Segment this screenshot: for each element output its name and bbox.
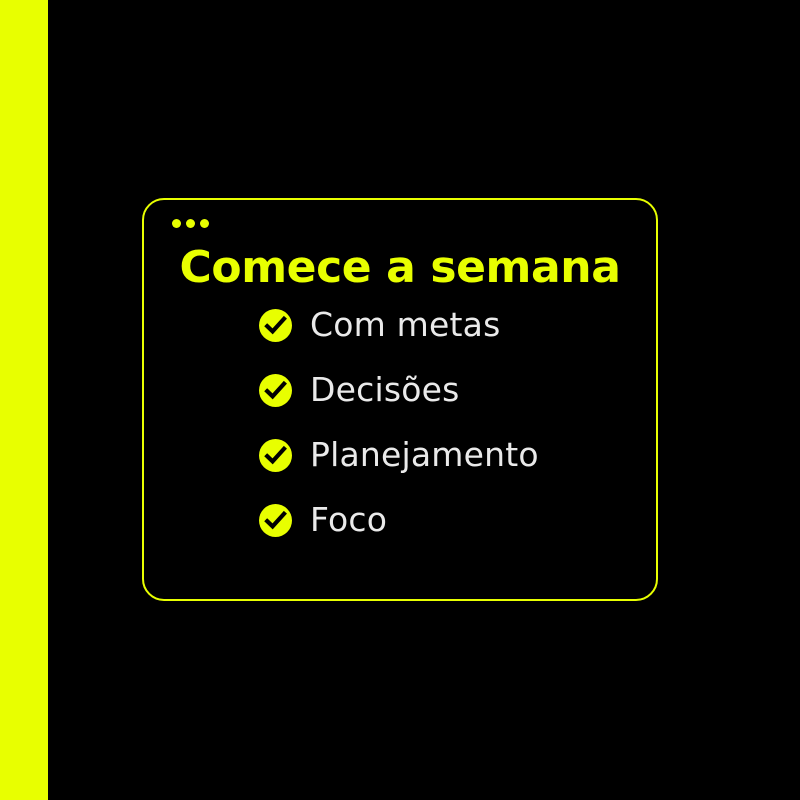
list-item-label: Planejamento [310, 438, 539, 472]
window-dot-1 [172, 219, 181, 228]
window-dot-3 [200, 219, 209, 228]
checklist: Com metas Decisões Pla [259, 308, 539, 537]
list-item-label: Decisões [310, 373, 460, 407]
check-circle-icon [259, 309, 292, 342]
checklist-card: Comece a semana Com metas [142, 198, 658, 601]
left-accent-stripe [0, 0, 48, 800]
canvas: Comece a semana Com metas [0, 0, 800, 800]
check-circle-icon [259, 439, 292, 472]
check-circle-icon [259, 374, 292, 407]
list-item-label: Foco [310, 503, 387, 537]
list-item[interactable]: Foco [259, 503, 539, 537]
list-item[interactable]: Com metas [259, 308, 539, 342]
window-dot-2 [186, 219, 195, 228]
list-item[interactable]: Decisões [259, 373, 539, 407]
card-title: Comece a semana [144, 246, 656, 290]
list-item[interactable]: Planejamento [259, 438, 539, 472]
check-circle-icon [259, 504, 292, 537]
window-dots [172, 219, 209, 228]
list-item-label: Com metas [310, 308, 500, 342]
